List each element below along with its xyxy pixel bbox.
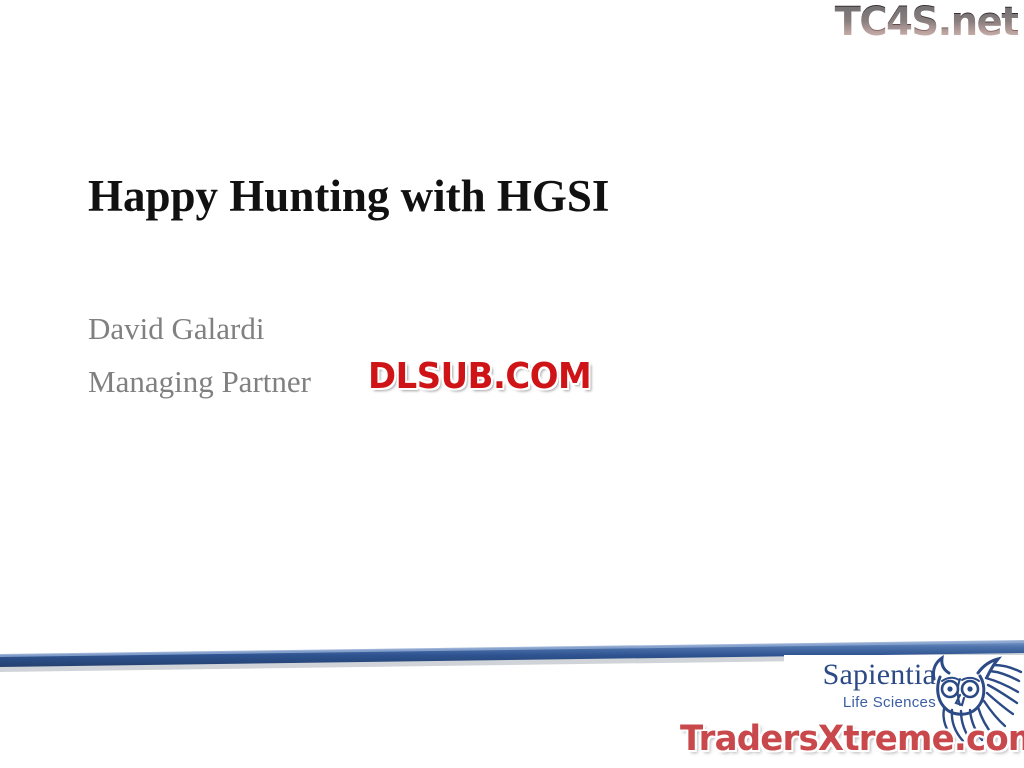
tradersxtreme-watermark: TradersXtreme.com bbox=[680, 718, 1024, 760]
presentation-slide: TC4S.net Happy Hunting with HGSI David G… bbox=[0, 0, 1024, 768]
sapientia-logo-tagline: Life Sciences bbox=[784, 693, 936, 712]
subtitle-line-presenter: David Galardi bbox=[88, 302, 888, 355]
slide-title: Happy Hunting with HGSI bbox=[88, 172, 938, 222]
dlsub-watermark: DLSUB.COM bbox=[368, 357, 591, 397]
sapientia-logo-name: Sapientia bbox=[784, 659, 936, 691]
tc4s-watermark: TC4S.net bbox=[834, 2, 1018, 42]
sapientia-logo-text: Sapientia Life Sciences bbox=[784, 659, 936, 712]
